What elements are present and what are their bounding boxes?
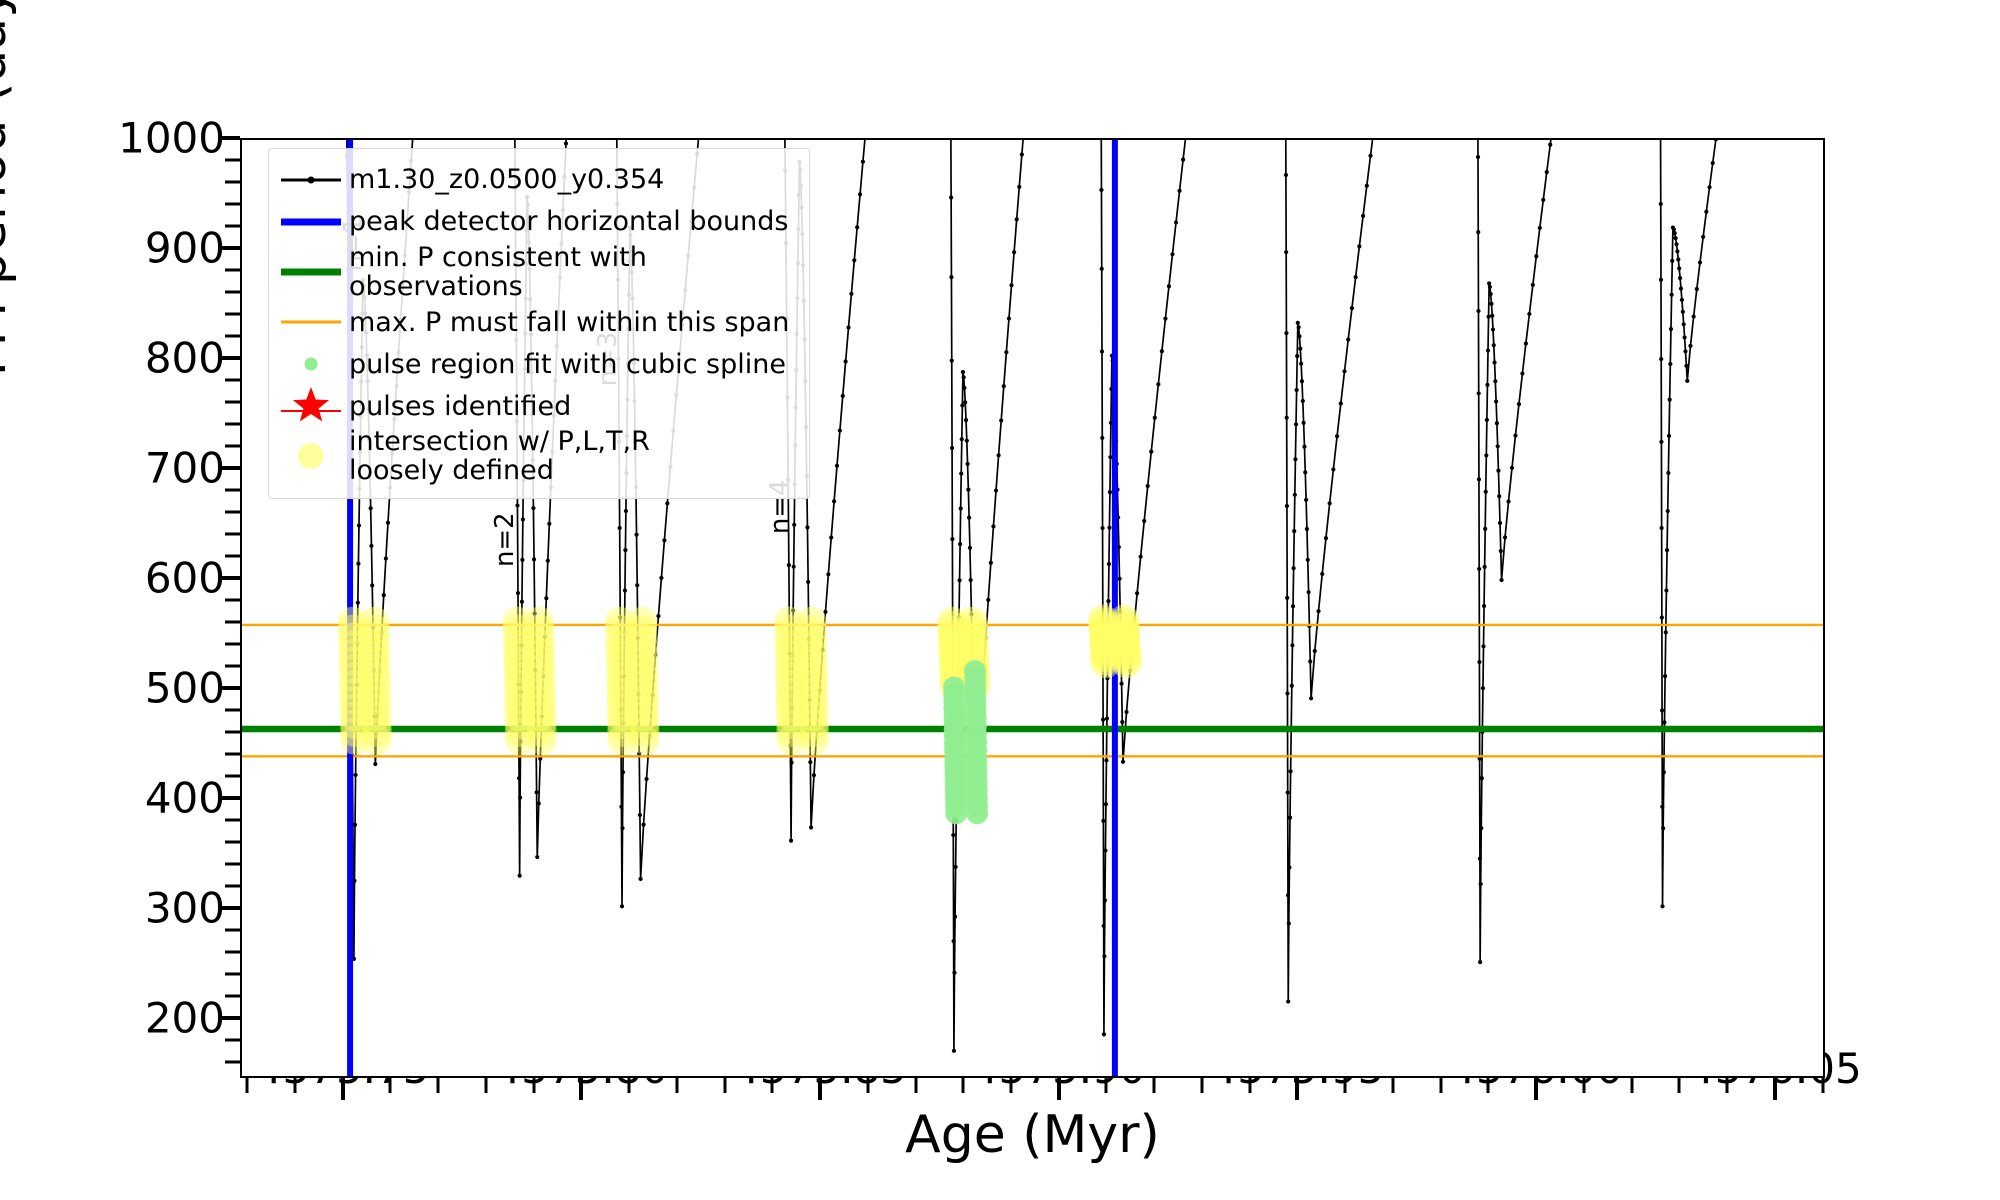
curve-point-marker (965, 439, 969, 443)
x-tick-minor (914, 1078, 917, 1093)
curve-point-marker (1357, 244, 1361, 248)
curve-point-marker (1293, 493, 1297, 497)
y-tick-minor (225, 158, 240, 161)
curve-point-marker (1660, 708, 1664, 712)
curve-point-marker (962, 386, 966, 390)
curve-point-marker (1548, 143, 1552, 147)
curve-point-marker (1346, 337, 1350, 341)
y-tick-label: 400 (145, 773, 225, 822)
y-tick-minor (225, 180, 240, 183)
curve-point-marker (1664, 630, 1668, 634)
curve-point-marker (659, 576, 663, 580)
spline-marker (945, 802, 967, 824)
legend-line-swatch (281, 219, 341, 226)
y-tick-label: 800 (145, 333, 225, 382)
curve-point-marker (954, 865, 958, 869)
curve-point-marker (624, 509, 628, 513)
curve-point-marker (1506, 499, 1510, 503)
legend-dot-swatch (298, 443, 324, 469)
curve-point-marker (619, 805, 623, 809)
curve-point-marker (961, 370, 965, 374)
curve-point-marker (1303, 470, 1307, 474)
curve-point-marker (1365, 184, 1369, 188)
curve-point-marker (1101, 718, 1105, 722)
curve-point-marker (1711, 161, 1715, 165)
curve-point-marker (621, 770, 625, 774)
curve-point-marker (1342, 369, 1346, 373)
x-tick-minor (628, 1078, 631, 1093)
curve-point-marker (1520, 371, 1524, 375)
curve-point-marker (1683, 349, 1687, 353)
y-tick-minor (225, 488, 240, 491)
curve-point-marker (1489, 292, 1493, 296)
legend-key-2 (279, 201, 343, 243)
curve-point-marker (1538, 226, 1542, 230)
intersection-marker (1112, 648, 1142, 678)
spline-markers (943, 660, 988, 824)
x-tick-minor (1153, 1078, 1156, 1093)
curve-point-marker (1284, 250, 1288, 254)
curve-point-marker (1296, 321, 1300, 325)
x-tick-minor (1105, 1078, 1108, 1093)
curve-point-marker (1149, 450, 1153, 454)
curve-point-marker (547, 522, 551, 526)
curve-point-marker (960, 403, 964, 407)
curve-point-marker (1486, 315, 1490, 319)
curve-point-marker (1142, 519, 1146, 523)
curve-point-marker (531, 506, 535, 510)
curve-point-marker (1684, 364, 1688, 368)
curve-point-marker (989, 561, 993, 565)
curve-point-marker (1701, 235, 1705, 239)
curve-point-marker (1484, 453, 1488, 457)
curve-point-marker (1679, 287, 1683, 291)
curve-point-marker (1105, 716, 1109, 720)
curve-point-marker (518, 874, 522, 878)
curve-point-marker (1714, 140, 1718, 141)
curve-point-marker (1284, 331, 1288, 335)
curve-point-marker (849, 292, 853, 296)
curve-point-marker (1666, 509, 1670, 513)
curve-point-marker (968, 546, 972, 550)
curve-point-marker (370, 583, 374, 587)
curve-point-marker (1007, 316, 1011, 320)
curve-point-marker (808, 760, 812, 764)
curve-point-marker (1479, 882, 1483, 886)
curve-point-marker (1481, 644, 1485, 648)
curve-point-marker (1292, 529, 1296, 533)
curve-point-marker (1487, 281, 1491, 285)
curve-point-marker (962, 375, 966, 379)
curve-point-marker (1163, 316, 1167, 320)
legend-key-7 (279, 435, 343, 477)
curve-point-marker (1139, 555, 1143, 559)
curve-point-marker (1017, 185, 1021, 189)
curve-point-marker (1492, 343, 1496, 347)
curve-point-marker (357, 523, 361, 527)
curve-point-marker (1491, 327, 1495, 331)
curve-point-marker (353, 823, 357, 827)
x-tick-minor (675, 1078, 678, 1093)
y-tick-minor (225, 664, 240, 667)
curve-point-marker (1335, 434, 1339, 438)
curve-point-marker (1672, 227, 1676, 231)
curve-point-marker (957, 578, 961, 582)
curve-point-marker (1146, 484, 1150, 488)
curve-point-marker (356, 601, 360, 605)
y-tick-label: 300 (145, 883, 225, 932)
curve-point-marker (1513, 433, 1517, 437)
y-tick-minor (225, 950, 240, 953)
curve-point-marker (644, 777, 648, 781)
curve-point-marker (641, 823, 645, 827)
legend-item[interactable]: max. P must fall within this span (279, 301, 799, 343)
curve-point-marker (1480, 776, 1484, 780)
curve-point-marker (1099, 188, 1103, 192)
y-tick-minor (225, 928, 240, 931)
legend-item[interactable]: pulse region fit with cubic spline (279, 343, 799, 385)
curve-point-marker (792, 565, 796, 569)
curve-point-marker (1483, 527, 1487, 531)
y-tick-label: 500 (145, 663, 225, 712)
curve-point-marker (1306, 558, 1310, 562)
curve-point-marker (1286, 893, 1290, 897)
legend-key-4 (279, 301, 343, 343)
curve-point-marker (1297, 334, 1301, 338)
legend-item[interactable]: peak detector horizontal bounds (279, 201, 799, 243)
curve-point-marker (1288, 816, 1292, 820)
legend-key-1 (279, 159, 343, 201)
curve-point-marker (1660, 904, 1664, 908)
curve-point-marker (1295, 388, 1299, 392)
curve-point-marker (805, 525, 809, 529)
curve-point-marker (1305, 527, 1309, 531)
curve-point-marker (1660, 526, 1664, 530)
curve-point-marker (1294, 422, 1298, 426)
curve-point-marker (515, 503, 519, 507)
curve-point-marker (618, 526, 622, 530)
curve-point-marker (1499, 549, 1503, 553)
curve-point-marker (1659, 202, 1663, 206)
curve-point-marker (1517, 402, 1521, 406)
curve-point-marker (1287, 921, 1291, 925)
curve-point-marker (520, 558, 524, 562)
x-tick-minor (723, 1078, 726, 1093)
curve-point-marker (1285, 504, 1289, 508)
curve-point-marker (1290, 643, 1294, 647)
intersection-marker (527, 725, 557, 755)
curve-point-marker (1135, 591, 1139, 595)
curve-point-marker (1295, 354, 1299, 358)
legend-item-label: intersection w/ P,L,T,R loosely defined (349, 427, 650, 485)
curve-point-marker (1660, 805, 1664, 809)
chart-figure: FM period (days) Age (Myr) 2003004005006… (0, 0, 2000, 1200)
curve-point-marker (994, 488, 998, 492)
curve-point-marker (1102, 924, 1106, 928)
y-axis-label: FM period (days) (0, 0, 18, 608)
curve-point-marker (634, 533, 638, 537)
curve-point-marker (1285, 416, 1289, 420)
curve-point-marker (835, 464, 839, 468)
intersection-marker (630, 725, 660, 755)
curve-point-marker (1309, 696, 1313, 700)
curve-point-marker (1503, 535, 1507, 539)
y-tick-minor (225, 730, 240, 733)
y-tick-minor (225, 422, 240, 425)
legend-item[interactable]: intersection w/ P,L,T,R loosely defined (279, 427, 799, 485)
curve-point-marker (1483, 565, 1487, 569)
curve-point-marker (1302, 445, 1306, 449)
curve-point-marker (806, 580, 810, 584)
curve-point-marker (1100, 436, 1104, 440)
curve-point-marker (1669, 327, 1673, 331)
curve-point-marker (1668, 362, 1672, 366)
curve-point-marker (1350, 306, 1354, 310)
y-tick-minor (225, 620, 240, 623)
curve-point-marker (1682, 335, 1686, 339)
curve-point-marker (952, 939, 956, 943)
curve-point-marker (1707, 185, 1711, 189)
curve-point-marker (1476, 155, 1480, 159)
y-tick-minor (225, 752, 240, 755)
curve-point-marker (546, 559, 550, 563)
curve-point-marker (1660, 615, 1664, 619)
curve-point-marker (1496, 469, 1500, 473)
curve-point-marker (532, 557, 536, 561)
curve-point-marker (1300, 379, 1304, 383)
curve-point-marker (656, 614, 660, 618)
legend-line-swatch (281, 269, 341, 276)
legend-item[interactable]: pulses identified (279, 385, 799, 427)
y-tick-minor (225, 224, 240, 227)
legend-item-label: peak detector horizontal bounds (349, 207, 788, 236)
curve-point-marker (1688, 344, 1692, 348)
curve-point-marker (1662, 770, 1666, 774)
curve-point-marker (620, 826, 624, 830)
curve-point-marker (959, 506, 963, 510)
curve-point-marker (1101, 819, 1105, 823)
curve-point-marker (1015, 217, 1019, 221)
curve-point-marker (638, 877, 642, 881)
curve-point-marker (1291, 604, 1295, 608)
curve-point-marker (1331, 467, 1335, 471)
x-tick-minor (962, 1078, 965, 1093)
x-tick-minor (532, 1078, 535, 1093)
curve-point-marker (1285, 596, 1289, 600)
curve-point-marker (1698, 260, 1702, 264)
curve-point-marker (846, 325, 850, 329)
curve-point-marker (958, 542, 962, 546)
curve-point-marker (809, 825, 813, 829)
curve-point-marker (1160, 349, 1164, 353)
y-tick-label: 700 (145, 443, 225, 492)
curve-point-marker (1299, 362, 1303, 366)
legend-item-label: pulse region fit with cubic spline (349, 350, 786, 379)
y-tick-minor (225, 994, 240, 997)
y-tick-minor (225, 862, 240, 865)
curve-point-marker (1527, 312, 1531, 316)
y-tick-minor (225, 774, 240, 777)
curve-point-marker (1170, 252, 1174, 256)
x-tick-minor (484, 1078, 487, 1093)
curve-point-marker (1484, 490, 1488, 494)
x-tick-minor (1726, 1078, 1729, 1093)
y-tick-minor (225, 268, 240, 271)
curve-point-marker (520, 600, 524, 604)
curve-point-marker (1316, 609, 1320, 613)
curve-point-marker (812, 773, 816, 777)
x-tick-minor (293, 1078, 296, 1093)
curve-point-marker (1153, 416, 1157, 420)
curve-point-marker (1493, 379, 1497, 383)
legend-item-label: max. P must fall within this span (349, 308, 789, 337)
curve-point-marker (964, 418, 968, 422)
curve-point-marker (1663, 674, 1667, 678)
curve-point-marker (959, 471, 963, 475)
curve-point-marker (1100, 526, 1104, 530)
curve-point-marker (789, 839, 793, 843)
curve-point-marker (1304, 498, 1308, 502)
y-tick-minor (225, 840, 240, 843)
x-tick-minor (1678, 1078, 1681, 1093)
curve-point-marker (1668, 397, 1672, 401)
curve-point-marker (517, 776, 521, 780)
y-tick-label: 1000 (118, 114, 225, 163)
y-tick-minor (225, 642, 240, 645)
curve-point-marker (829, 535, 833, 539)
curve-point-marker (1477, 660, 1481, 664)
curve-point-marker (861, 160, 865, 164)
curve-point-marker (1285, 691, 1289, 695)
curve-point-marker (1485, 383, 1489, 387)
curve-point-marker (852, 258, 856, 262)
curve-point-marker (1103, 898, 1107, 902)
curve-point-marker (623, 548, 627, 552)
curve-point-marker (838, 428, 842, 432)
curve-segment (1649, 140, 1814, 906)
curve-point-marker (1499, 578, 1503, 582)
y-tick-minor (225, 510, 240, 513)
curve-point-marker (1482, 604, 1486, 608)
curve-point-marker (953, 915, 957, 919)
curve-point-marker (1489, 302, 1493, 306)
intersection-markers (338, 605, 1142, 755)
curve-point-marker (1685, 379, 1689, 383)
legend-item-label: min. P consistent with observations (349, 243, 799, 301)
curve-point-marker (382, 593, 386, 597)
curve-point-marker (1284, 173, 1288, 177)
curve-point-marker (1680, 298, 1684, 302)
curve-point-marker (1662, 720, 1666, 724)
curve-point-marker (1496, 444, 1500, 448)
spline-marker (966, 802, 988, 824)
curve-point-marker (1107, 526, 1111, 530)
y-tick-minor (225, 818, 240, 821)
curve-point-marker (1117, 577, 1121, 581)
curve-point-marker (1102, 1032, 1106, 1036)
curve-point-marker (1354, 275, 1358, 279)
curve-point-marker (1009, 283, 1013, 287)
x-tick-minor (437, 1078, 440, 1093)
curve-point-marker (841, 394, 845, 398)
curve-point-marker (544, 596, 548, 600)
curve-point-marker (638, 813, 642, 817)
curve-point-marker (1659, 440, 1663, 444)
legend-item[interactable]: m1.30_z0.0500_y0.354 (279, 159, 799, 201)
curve-point-marker (1100, 267, 1104, 271)
legend-item[interactable]: min. P consistent with observations (279, 243, 799, 301)
curve-point-marker (787, 563, 791, 567)
curve-point-marker (1676, 257, 1680, 261)
curve-point-marker (1524, 341, 1528, 345)
intersection-marker (799, 725, 829, 755)
curve-point-marker (564, 141, 568, 145)
curve-point-marker (537, 801, 541, 805)
curve-point-marker (620, 904, 624, 908)
curve-point-marker (665, 501, 669, 505)
curve-point-marker (1695, 287, 1699, 291)
curve-point-marker (1659, 357, 1663, 361)
curve-point-marker (1306, 590, 1310, 594)
curve-point-marker (1665, 548, 1669, 552)
curve-point-marker (516, 591, 520, 595)
curve-point-marker (1324, 536, 1328, 540)
curve-point-marker (535, 855, 539, 859)
curve-point-marker (1704, 210, 1708, 214)
curve-point-marker (1490, 314, 1494, 318)
curve-point-marker (369, 506, 373, 510)
curve-point-marker (1289, 769, 1293, 773)
curve-point-marker (855, 225, 859, 229)
curve-point-marker (1012, 250, 1016, 254)
curve-segment (1274, 140, 1460, 1002)
curve-point-marker (1478, 960, 1482, 964)
curve-point-marker (521, 517, 525, 521)
legend-star-swatch (279, 385, 343, 427)
legend-dot-swatch (305, 358, 318, 371)
pulse-index-annotation: n=2 (490, 512, 520, 567)
curve-point-marker (1674, 236, 1678, 240)
x-tick-minor (1582, 1078, 1585, 1093)
curve-point-marker (386, 521, 390, 525)
intersection-marker (362, 725, 392, 755)
curve-point-marker (1002, 384, 1006, 388)
curve-point-marker (999, 418, 1003, 422)
curve-point-marker (1498, 521, 1502, 525)
curve-point-marker (950, 537, 954, 541)
y-tick-minor (225, 444, 240, 447)
curve-point-marker (384, 556, 388, 560)
curve-point-marker (1177, 189, 1181, 193)
curve-point-marker (1020, 152, 1024, 156)
curve-point-marker (1481, 686, 1485, 690)
curve-point-marker (535, 790, 539, 794)
curve-point-marker (1320, 572, 1324, 576)
curve-point-marker (1478, 857, 1482, 861)
curve-point-marker (1488, 285, 1492, 289)
curve-point-marker (1545, 170, 1549, 174)
y-tick-minor (225, 202, 240, 205)
x-tick-minor (1010, 1078, 1013, 1093)
x-tick-minor (1821, 1078, 1824, 1093)
curve-point-marker (1286, 790, 1290, 794)
x-tick-minor (389, 1078, 392, 1093)
curve-point-marker (960, 437, 964, 441)
curve-point-marker (1297, 325, 1301, 329)
curve-point-marker (353, 773, 357, 777)
curve-point-marker (1692, 314, 1696, 318)
curve-point-marker (1492, 360, 1496, 364)
